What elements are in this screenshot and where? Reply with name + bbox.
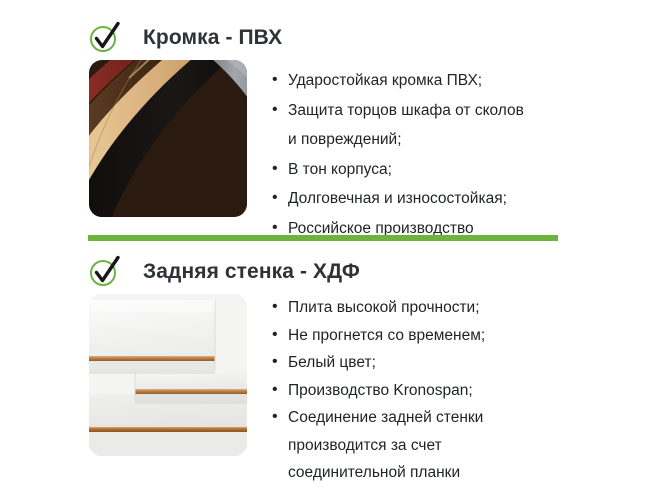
list-item: Белый цвет;: [272, 351, 602, 375]
green-divider: [88, 235, 558, 241]
list-item: Долговечная и износостойкая;: [272, 187, 602, 211]
hdf-back-panel-photo: [89, 294, 247, 456]
page-title: Задняя стенка - ХДФ: [143, 261, 360, 282]
page-title: Кромка - ПВХ: [143, 27, 282, 48]
section-heading-row: Задняя стенка - ХДФ: [0, 248, 652, 294]
list-item: Плита высокой прочности;: [272, 296, 602, 320]
check-circle-icon: [88, 254, 122, 288]
feature-page: Кромка - ПВХ: [0, 0, 652, 500]
pvc-edge-banding-photo: [89, 60, 247, 217]
section-body-row: Плита высокой прочности; Не прогнется со…: [0, 294, 652, 464]
feature-section-back-panel-hdf: Задняя стенка - ХДФ: [0, 248, 652, 464]
list-item: Ударостойкая кромка ПВХ;: [272, 69, 602, 93]
section-body-row: Ударостойкая кромка ПВХ; Защита торцов ш…: [0, 60, 652, 220]
list-item: Соединение задней стенки: [272, 406, 602, 430]
check-circle-icon: [88, 20, 122, 54]
list-item-continuation: и повреждений;: [272, 128, 602, 152]
feature-list: Ударостойкая кромка ПВХ; Защита торцов ш…: [272, 69, 602, 246]
list-item: Производство Kronospan;: [272, 379, 602, 403]
feature-section-edge-pvc: Кромка - ПВХ: [0, 14, 652, 220]
list-item-continuation: соединительной планки: [272, 461, 602, 485]
feature-list: Плита высокой прочности; Не прогнется со…: [272, 296, 602, 489]
list-item: Не прогнется со временем;: [272, 324, 602, 348]
list-item: В тон корпуса;: [272, 158, 602, 182]
section-heading-row: Кромка - ПВХ: [0, 14, 652, 60]
list-item: Защита торцов шкафа от сколов: [272, 99, 602, 123]
list-item-continuation: производится за счет: [272, 434, 602, 458]
